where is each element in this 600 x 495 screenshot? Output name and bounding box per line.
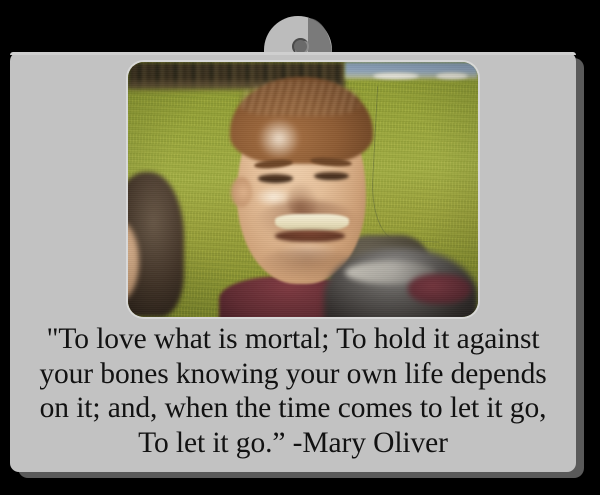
quote-line-1: "To love what is mortal; To hold it agai… [12,322,574,357]
photo-vignette [128,62,478,317]
quote-text: "To love what is mortal; To hold it agai… [12,322,574,460]
photograph [128,62,478,317]
quote-line-4: To let it go.” -Mary Oliver [12,426,574,461]
quote-line-2: your bones knowing your own life depends [12,357,574,392]
tab-shading [308,18,332,56]
hanging-tab [264,16,334,56]
plaque-top-highlight [10,52,576,55]
quote-line-3: on it; and, when the time comes to let i… [12,391,574,426]
screenshot-root: "To love what is mortal; To hold it agai… [0,0,600,495]
photograph-content [128,62,478,317]
